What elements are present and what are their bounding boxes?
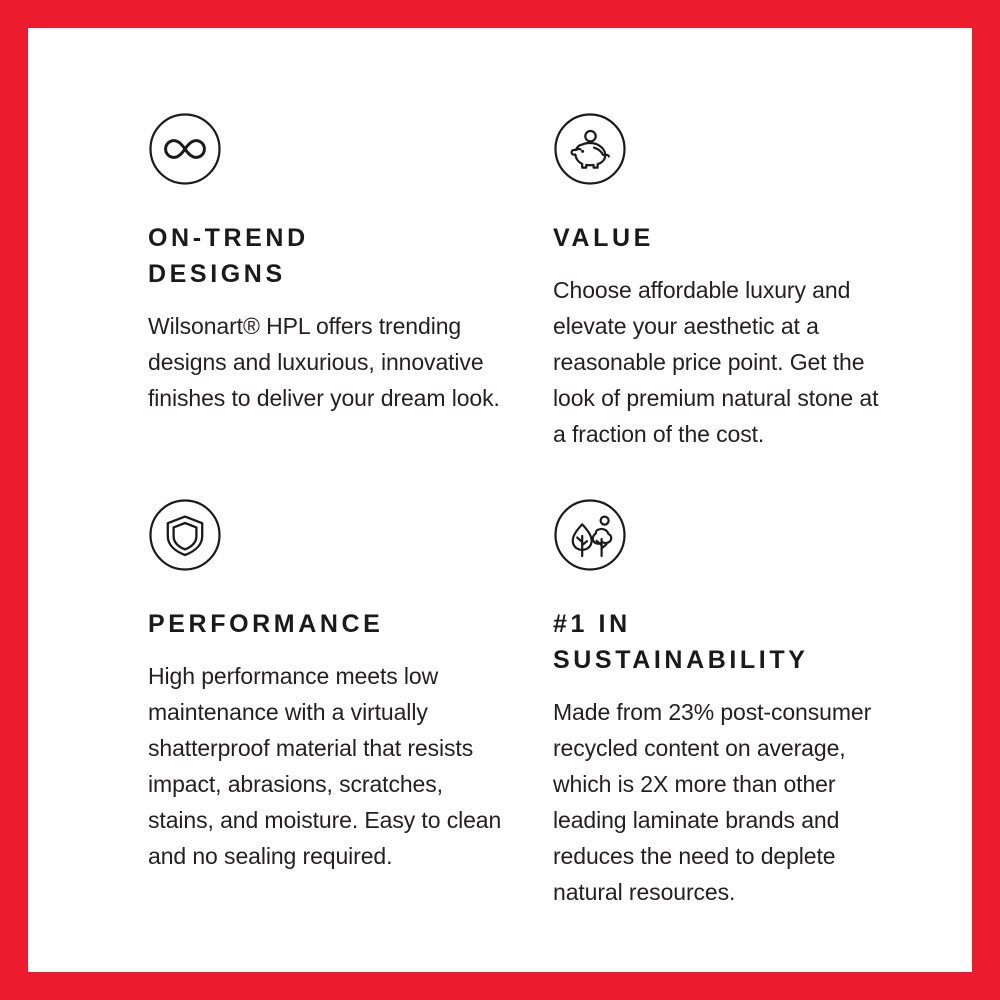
- card-title: ON-TREND DESIGNS: [148, 220, 507, 292]
- feature-grid: ON-TREND DESIGNS Wilsonart® HPL offers t…: [120, 112, 910, 910]
- feature-card-value: VALUE Choose affordable luxury and eleva…: [525, 112, 910, 452]
- poster-red-frame: ON-TREND DESIGNS Wilsonart® HPL offers t…: [0, 0, 1000, 1000]
- card-body: Choose affordable luxury and elevate you…: [553, 272, 892, 452]
- feature-card-sustainability: #1 IN SUSTAINABILITY Made from 23% post-…: [525, 452, 910, 910]
- card-title: #1 IN SUSTAINABILITY: [553, 606, 892, 678]
- feature-card-performance: PERFORMANCE High performance meets low m…: [120, 452, 525, 910]
- shield-icon: [148, 498, 222, 572]
- infinity-icon: [148, 112, 222, 186]
- feature-card-on-trend-designs: ON-TREND DESIGNS Wilsonart® HPL offers t…: [120, 112, 525, 452]
- card-body: High performance meets low maintenance w…: [148, 658, 507, 874]
- piggy-bank-icon: [553, 112, 627, 186]
- white-content-panel: ON-TREND DESIGNS Wilsonart® HPL offers t…: [28, 28, 972, 972]
- card-body: Wilsonart® HPL offers trending designs a…: [148, 308, 507, 416]
- card-title: VALUE: [553, 220, 892, 256]
- trees-sun-icon: [553, 498, 627, 572]
- card-body: Made from 23% post-consumer recycled con…: [553, 694, 892, 910]
- card-title: PERFORMANCE: [148, 606, 507, 642]
